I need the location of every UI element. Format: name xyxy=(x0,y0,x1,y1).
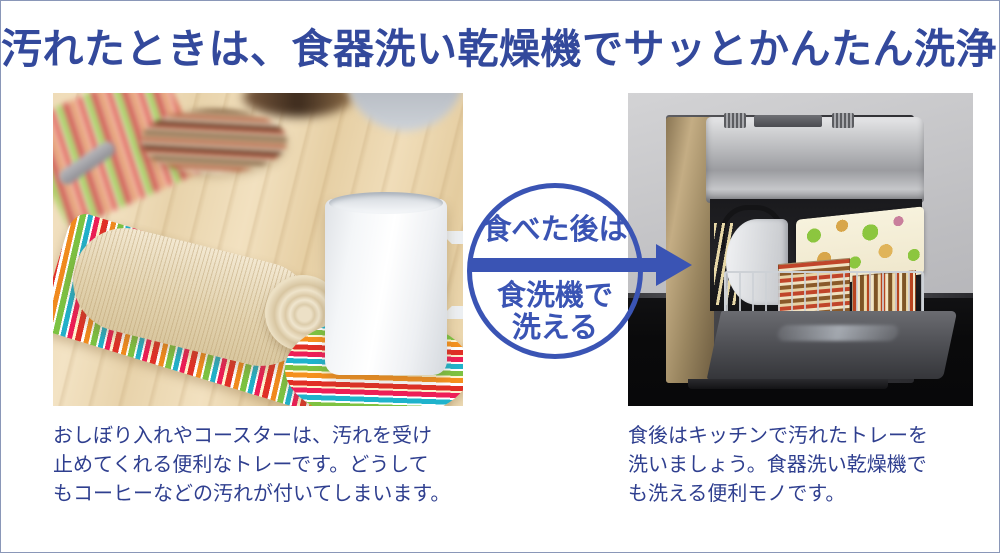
caption-left: おしぼり入れやコースターは、汚れを受け 止めてくれる便利なトレーです。どうして … xyxy=(53,421,503,508)
vent-grille-right xyxy=(832,113,854,128)
striped-coaster-background xyxy=(141,109,287,173)
door-highlight xyxy=(776,325,899,341)
white-mug xyxy=(325,199,447,375)
page-title: 汚れたときは、食器洗い乾燥機でサッとかんたん洗浄！！ xyxy=(1,15,1000,75)
control-slot xyxy=(754,115,822,127)
photo-towel-tray xyxy=(53,93,463,406)
arrow-head-icon xyxy=(656,244,692,286)
dishwasher-top-panel xyxy=(706,117,924,203)
advertisement-canvas: 汚れたときは、食器洗い乾燥機でサッとかんたん洗浄！！ xyxy=(0,0,1000,553)
vent-grille-left xyxy=(724,113,746,128)
arrow-shaft xyxy=(468,258,663,272)
caption-right: 食後はキッチンで汚れたトレーを 洗いましょう。食器洗い乾燥機で も洗える便利モノ… xyxy=(628,421,973,508)
dishwasher-door-open xyxy=(707,311,957,379)
dishwasher-base xyxy=(688,379,888,389)
badge-text-line-1: 食べた後は xyxy=(467,206,643,248)
badge-text-line-3: 洗える xyxy=(467,304,643,346)
